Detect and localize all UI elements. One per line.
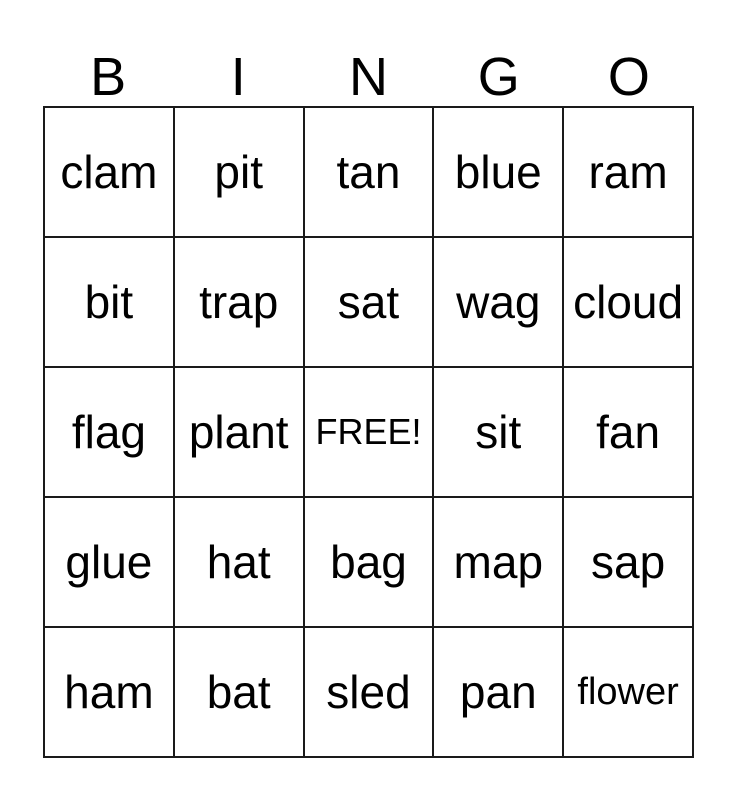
- bingo-grid: clam pit tan blue ram bit trap sat wag c…: [43, 106, 694, 758]
- bingo-cell[interactable]: ram: [564, 108, 694, 238]
- bingo-cell[interactable]: bit: [45, 238, 175, 368]
- bingo-cell[interactable]: cloud: [564, 238, 694, 368]
- bingo-cell-label: bag: [330, 539, 407, 585]
- bingo-header-letter-n-text: N: [349, 50, 388, 106]
- bingo-cell[interactable]: fan: [564, 368, 694, 498]
- bingo-cell-label: ham: [64, 669, 153, 715]
- bingo-cell[interactable]: plant: [175, 368, 305, 498]
- bingo-header-letter-g-text: G: [478, 50, 520, 106]
- bingo-cell-label: pan: [460, 669, 537, 715]
- bingo-card: B I N G O clam pit tan blue ram: [43, 30, 694, 758]
- bingo-cell[interactable]: glue: [45, 498, 175, 628]
- bingo-cell-label: glue: [65, 539, 152, 585]
- bingo-cell-label: trap: [199, 279, 278, 325]
- bingo-cell[interactable]: wag: [434, 238, 564, 368]
- bingo-cell[interactable]: sap: [564, 498, 694, 628]
- bingo-cell-label: sap: [591, 539, 665, 585]
- bingo-cell-label: tan: [337, 149, 401, 195]
- bingo-cell[interactable]: hat: [175, 498, 305, 628]
- bingo-cell[interactable]: ham: [45, 628, 175, 758]
- bingo-header-letter-o: O: [564, 30, 694, 106]
- bingo-cell-label: flower: [577, 673, 678, 711]
- bingo-header-letter-i-text: I: [231, 50, 246, 106]
- bingo-cell-label: clam: [60, 149, 157, 195]
- bingo-cell[interactable]: bag: [305, 498, 435, 628]
- bingo-free-space-label: FREE!: [315, 414, 421, 450]
- bingo-cell[interactable]: flag: [45, 368, 175, 498]
- bingo-cell[interactable]: sit: [434, 368, 564, 498]
- bingo-cell-label: sled: [326, 669, 410, 715]
- bingo-cell-label: hat: [207, 539, 271, 585]
- bingo-cell-label: ram: [588, 149, 667, 195]
- bingo-header-letter-o-text: O: [608, 50, 650, 106]
- bingo-cell-label: fan: [596, 409, 660, 455]
- bingo-free-space-cell[interactable]: FREE!: [305, 368, 435, 498]
- bingo-cell-label: map: [454, 539, 543, 585]
- bingo-cell[interactable]: trap: [175, 238, 305, 368]
- bingo-cell[interactable]: bat: [175, 628, 305, 758]
- bingo-header-letter-b: B: [43, 30, 173, 106]
- bingo-header-letter-b-text: B: [90, 50, 126, 106]
- bingo-header-letter-n: N: [303, 30, 433, 106]
- bingo-cell-label: wag: [456, 279, 540, 325]
- bingo-cell[interactable]: map: [434, 498, 564, 628]
- bingo-cell[interactable]: pan: [434, 628, 564, 758]
- bingo-cell[interactable]: sat: [305, 238, 435, 368]
- bingo-header-letter-i: I: [173, 30, 303, 106]
- bingo-cell[interactable]: sled: [305, 628, 435, 758]
- bingo-cell[interactable]: pit: [175, 108, 305, 238]
- bingo-cell-label: bit: [85, 279, 134, 325]
- bingo-header-row: B I N G O: [43, 30, 694, 106]
- bingo-cell-label: pit: [214, 149, 263, 195]
- bingo-cell[interactable]: blue: [434, 108, 564, 238]
- bingo-cell[interactable]: clam: [45, 108, 175, 238]
- bingo-cell-label: cloud: [573, 279, 683, 325]
- bingo-cell-label: bat: [207, 669, 271, 715]
- bingo-cell-label: flag: [72, 409, 146, 455]
- bingo-cell-label: sit: [475, 409, 521, 455]
- bingo-header-letter-g: G: [434, 30, 564, 106]
- bingo-cell[interactable]: tan: [305, 108, 435, 238]
- bingo-cell[interactable]: flower: [564, 628, 694, 758]
- bingo-cell-label: plant: [189, 409, 289, 455]
- bingo-cell-label: sat: [338, 279, 399, 325]
- bingo-cell-label: blue: [455, 149, 542, 195]
